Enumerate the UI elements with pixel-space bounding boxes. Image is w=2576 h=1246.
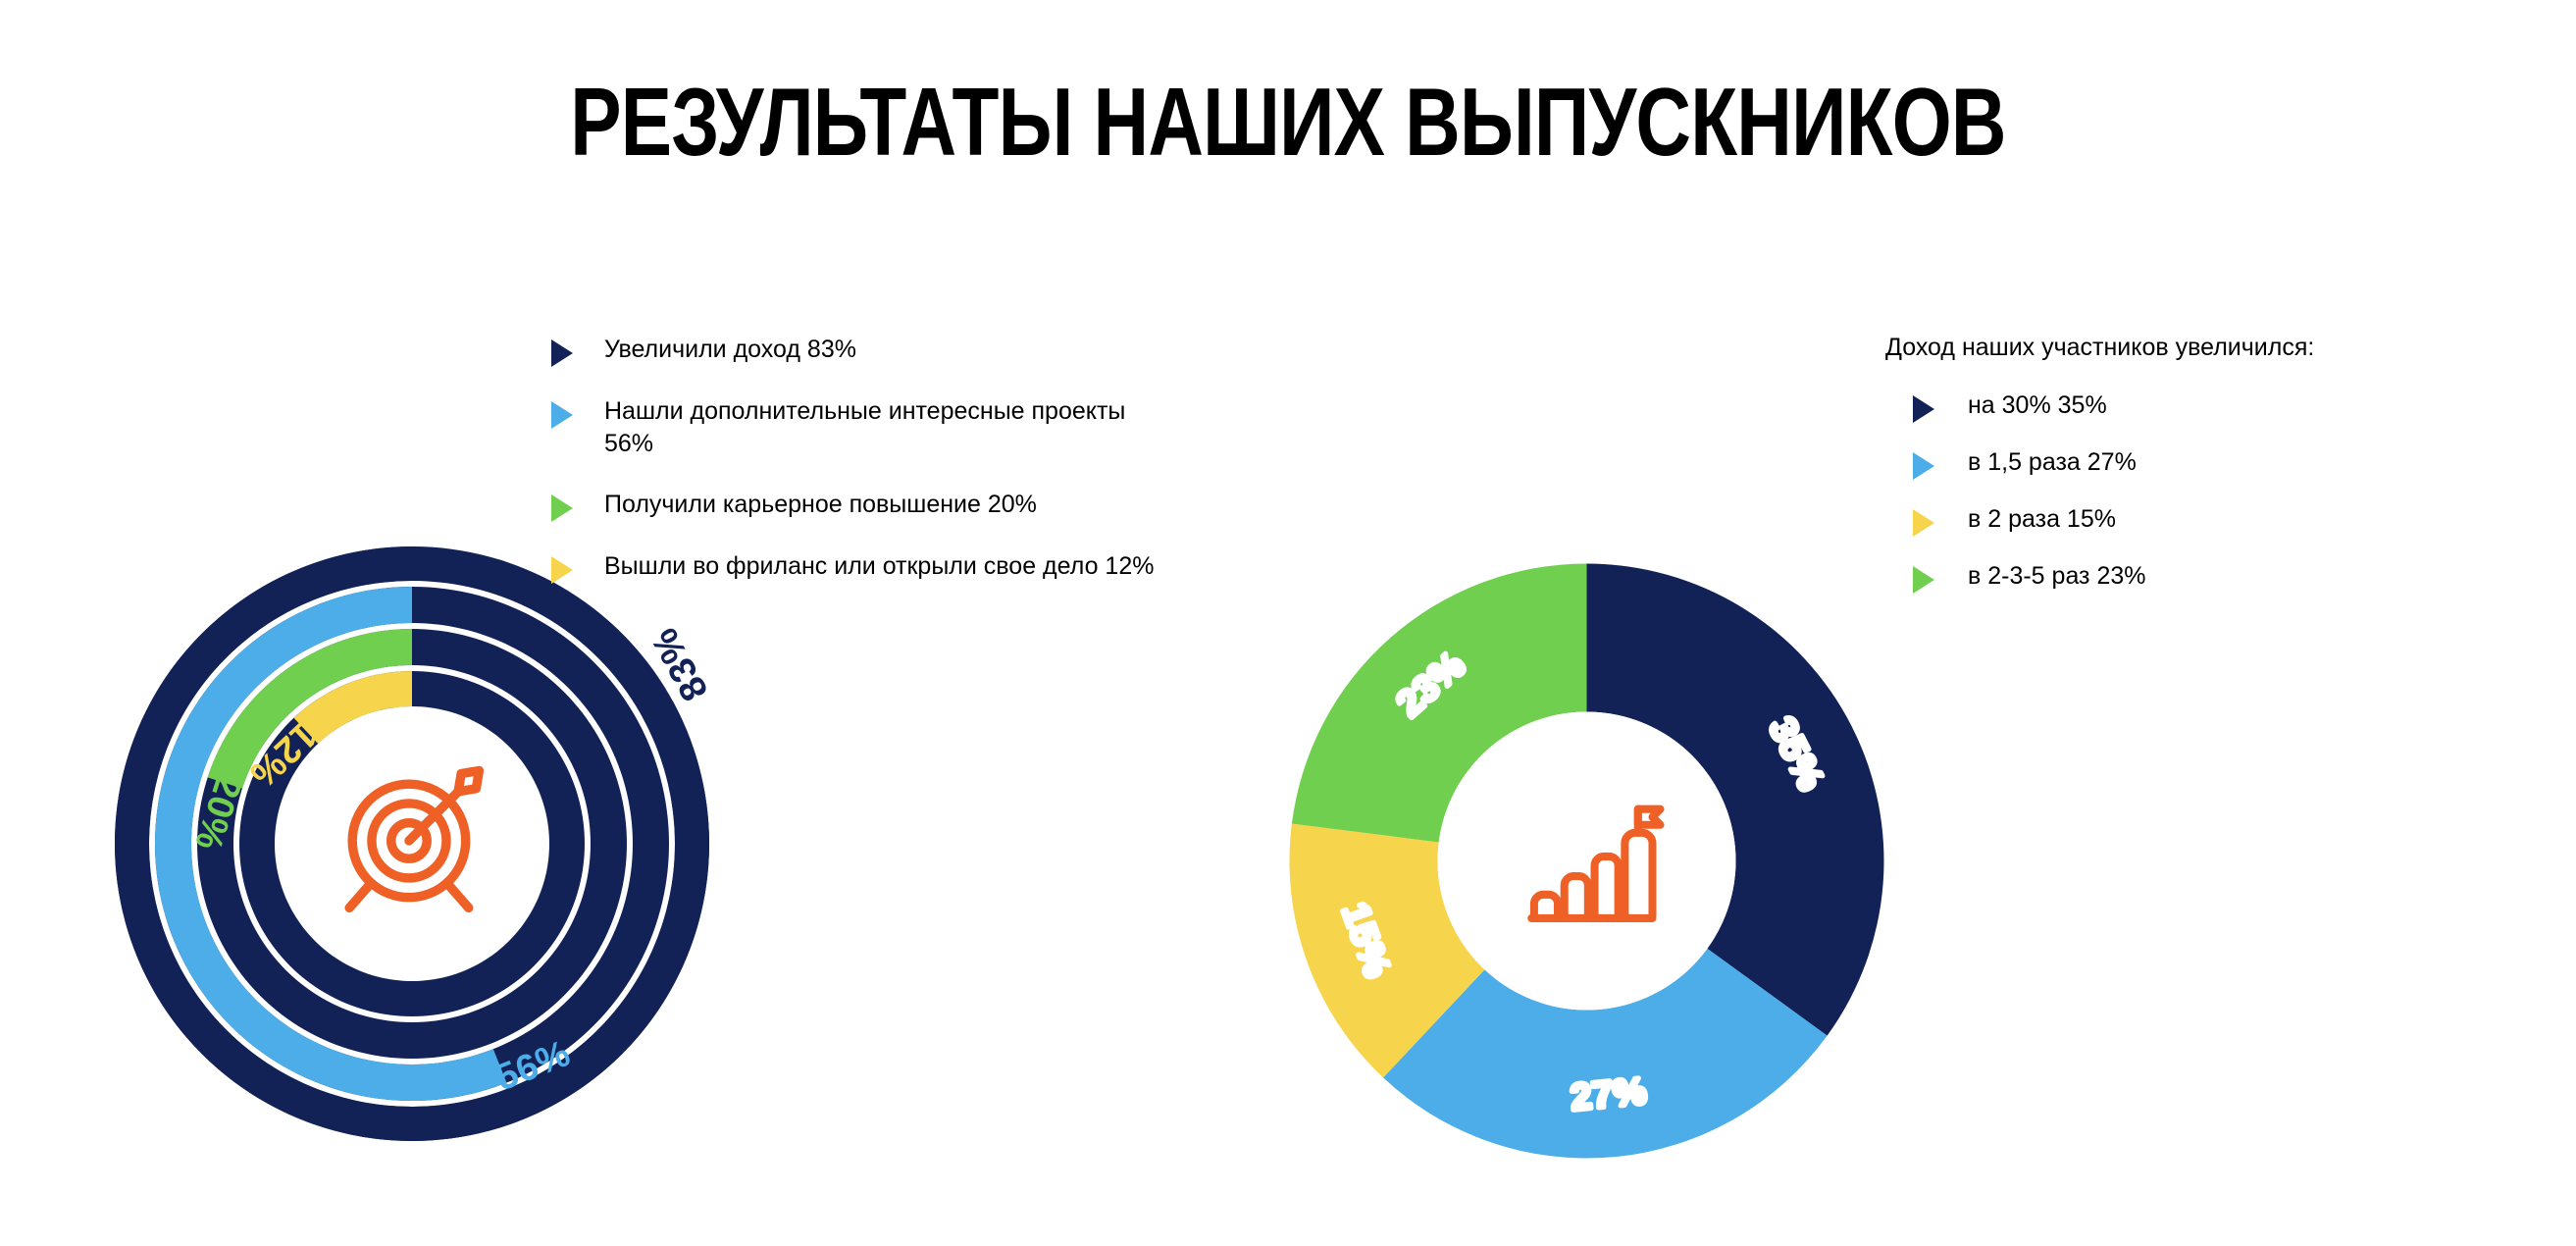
triangle-right-icon	[1913, 509, 1934, 537]
income-growth-donut-chart: 35%27%15%23%	[1280, 554, 1893, 1168]
donut-slice-label: 27%	[1569, 1070, 1648, 1118]
page-title: РЕЗУЛЬТАТЫ НАШИХ ВЫПУСКНИКОВ	[258, 74, 2319, 170]
triangle-right-icon	[551, 556, 573, 584]
legend-item-label: в 2 раза 15%	[1968, 503, 2116, 536]
triangle-right-icon	[1913, 566, 1934, 594]
target-arrow-icon	[349, 771, 479, 909]
legend-left: Увеличили доход 83% Нашли дополнительные…	[551, 334, 1297, 612]
legend-right-title: Доход наших участников увеличился:	[1885, 334, 2513, 362]
legend-item[interactable]: Увеличили доход 83%	[551, 334, 1297, 367]
legend-item[interactable]: Вышли во фриланс или открыли свое дело 1…	[551, 550, 1297, 584]
legend-item[interactable]: Нашли дополнительные интересные проекты …	[551, 395, 1297, 460]
triangle-right-icon	[551, 339, 573, 367]
legend-item[interactable]: в 2 раза 15%	[1913, 503, 2513, 537]
triangle-right-icon	[551, 494, 573, 522]
legend-right: Доход наших участников увеличился: на 30…	[1885, 334, 2513, 617]
legend-item-label: Вышли во фриланс или открыли свое дело 1…	[604, 550, 1154, 583]
legend-item[interactable]: в 2-3-5 раз 23%	[1913, 560, 2513, 594]
donut-hole	[1438, 712, 1736, 1011]
donut-chart-svg: 35%27%15%23%	[1280, 554, 1893, 1168]
triangle-right-icon	[551, 401, 573, 429]
legend-item[interactable]: Получили карьерное повышение 20%	[551, 489, 1297, 522]
radial-chart-svg: 83%56%20%12%	[98, 530, 726, 1158]
legend-item-label: Получили карьерное повышение 20%	[604, 489, 1037, 521]
legend-item-label: Нашли дополнительные интересные проекты …	[604, 395, 1125, 460]
graduate-results-radial-chart: 83%56%20%12%	[98, 530, 726, 1158]
legend-item-label: в 1,5 раза 27%	[1968, 446, 2137, 479]
triangle-right-icon	[1913, 395, 1934, 423]
legend-item-label: в 2-3-5 раз 23%	[1968, 560, 2146, 593]
legend-item-label: на 30% 35%	[1968, 389, 2107, 422]
legend-item-label: Увеличили доход 83%	[604, 334, 856, 366]
slide-canvas: РЕЗУЛЬТАТЫ НАШИХ ВЫПУСКНИКОВ 83%56%20%12…	[0, 0, 2576, 1246]
legend-item[interactable]: на 30% 35%	[1913, 389, 2513, 423]
legend-item[interactable]: в 1,5 раза 27%	[1913, 446, 2513, 480]
triangle-right-icon	[1913, 452, 1934, 480]
